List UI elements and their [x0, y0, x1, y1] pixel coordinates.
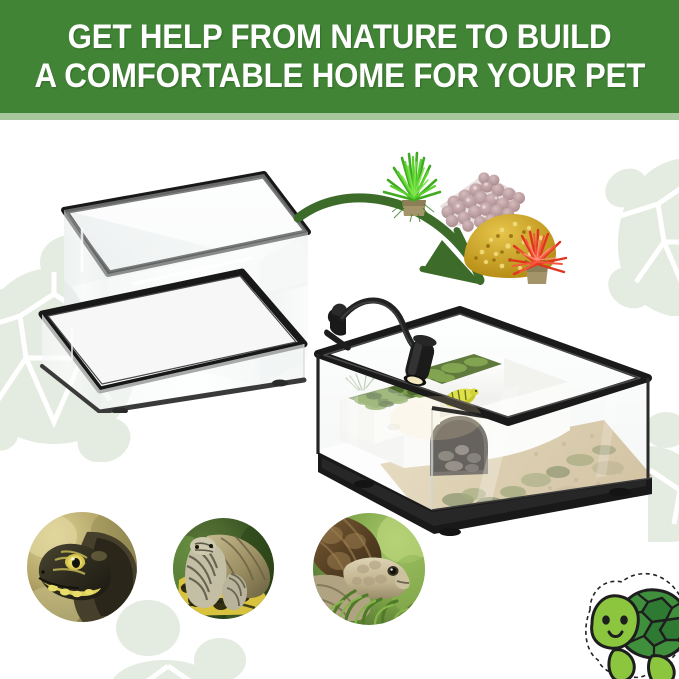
- empty-acrylic-turtle-tank: [12, 168, 332, 413]
- banner-accent-strip: [0, 113, 679, 120]
- photo-tortoise-grass: [313, 513, 425, 625]
- photo-turtle-front: [173, 518, 274, 619]
- product-banner-image: GET HELP FROM NATURE TO BUILD A COMFORTA…: [0, 0, 679, 679]
- tank-decoration-cluster: [378, 142, 568, 287]
- photo-turtle-head-closeup: [27, 512, 137, 622]
- header-banner: GET HELP FROM NATURE TO BUILD A COMFORTA…: [0, 0, 679, 113]
- banner-line-2: A COMFORTABLE HOME FOR YOUR PET: [34, 57, 645, 95]
- banner-line-1: GET HELP FROM NATURE TO BUILD: [68, 18, 612, 56]
- cartoon-turtle-sticker: [556, 568, 679, 679]
